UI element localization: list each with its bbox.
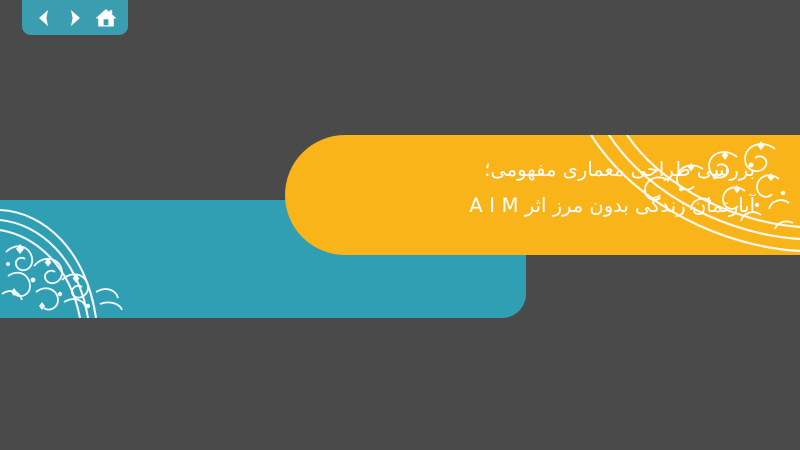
back-button[interactable] (31, 5, 57, 31)
navigation-bar (22, 0, 128, 35)
title-line-2: آپارتمان زندگی بدون مرز اثر A I M (300, 188, 755, 224)
next-arrow-icon (64, 7, 86, 29)
home-icon (94, 6, 118, 30)
forward-button[interactable] (62, 5, 88, 31)
slide-title: بررسی طراحی معماری مفهومی؛ آپارتمان زندگ… (300, 152, 755, 224)
title-line-1: بررسی طراحی معماری مفهومی؛ (300, 152, 755, 188)
arabesque-ornament-icon (0, 206, 135, 318)
home-button[interactable] (93, 5, 119, 31)
presentation-slide: بررسی طراحی معماری مفهومی؛ آپارتمان زندگ… (0, 0, 800, 450)
previous-arrow-icon (33, 7, 55, 29)
